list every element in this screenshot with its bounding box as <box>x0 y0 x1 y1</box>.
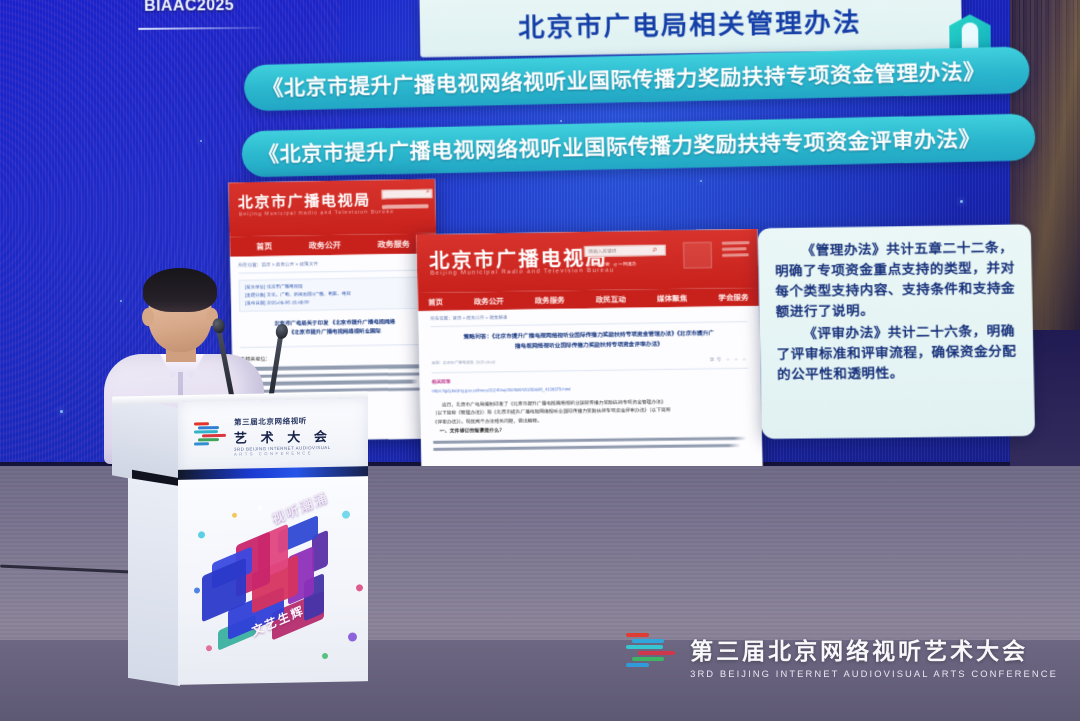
watermark-cn: 第三届北京网络视听艺术大会 <box>690 632 1058 666</box>
nav-item-left-1[interactable]: 政务公开 <box>309 239 341 251</box>
site-body-center: 所在位置：首页 > 政务公开 > 政策解读 策略问答：《北京市提升广播电视网络视… <box>418 306 763 474</box>
nav-item-center-1[interactable]: 政务公开 <box>474 295 504 307</box>
podium-side-body <box>128 478 180 686</box>
podium-front-body: 视听潮涌 文艺生辉 <box>178 476 368 685</box>
related-policy-link[interactable]: https://gdj.beijing.gov.cn/bwss/2024tzwj… <box>432 384 749 393</box>
website-screenshot-center: 北京市广播电视局 Beijing Municipal Radio and Tel… <box>416 229 762 474</box>
search-options-center: ◉ 本站搜索 ◎ 一网通办 <box>586 261 636 268</box>
doc-meta-center: 来源：北京市广播电视局 2025-06-06 <box>431 360 495 366</box>
search-icon-center[interactable]: ⌕ <box>652 244 657 255</box>
nav-item-left-0[interactable]: 首页 <box>256 241 272 252</box>
biaac-logo-text: BIAAC2025 <box>144 0 234 16</box>
watermark-text: 第三届北京网络视听艺术大会 3RD BEIJING INTERNET AUDIO… <box>690 632 1058 679</box>
breadcrumb-left: 所在位置：首页 > 政务公开 > 政策文件 <box>238 260 429 269</box>
podium-logo-en-2: ARTS CONFERENCE <box>234 450 332 457</box>
share-icons-center[interactable]: 字号 ○ ○ ○ <box>710 356 748 363</box>
slide-text-card: 《管理办法》共计五章二十二条，明确了专项资金重点支持的类型，并对每个类型支持内容… <box>758 224 1035 439</box>
bureau-header-center: 北京市广播电视局 Beijing Municipal Radio and Tel… <box>416 229 758 293</box>
slide-banner-1: 《北京市提升广播电视网络视听业国际传播力奖励扶持专项资金管理办法》 <box>244 46 1030 111</box>
header-links-center <box>722 241 753 268</box>
podium: 第三届北京网络视听 艺 术 大 会 3RD BEIJING INTERNET A… <box>112 394 368 694</box>
nav-item-center-2[interactable]: 政务服务 <box>535 294 565 306</box>
nav-item-center-3[interactable]: 政民互动 <box>596 293 626 305</box>
slide-title-text: 北京市广电局相关管理办法 <box>518 1 862 44</box>
stage-photo: BIAAC2025 北京市广电局相关管理办法 首都广电 BRTB 《北京市提升广… <box>0 0 1080 721</box>
nav-item-left-2[interactable]: 政务服务 <box>377 238 410 250</box>
search-icon-left[interactable]: ⌕ <box>426 188 430 196</box>
bureau-header-left: 北京市广播电视局 Beijing Municipal Radio and Tel… <box>228 179 436 237</box>
nav-item-center-5[interactable]: 学会服务 <box>718 291 749 303</box>
header-links-left <box>382 204 429 209</box>
slide-banner-2: 《北京市提升广播电视网络视听业国际传播力奖励扶持专项资金评审办法》 <box>241 113 1036 177</box>
conference-logo-icon <box>194 422 228 453</box>
nav-item-center-4[interactable]: 媒体聚焦 <box>657 292 687 304</box>
search-input-left[interactable] <box>382 189 433 199</box>
bureau-name-en-left: Beijing Municipal Radio and Television B… <box>239 209 394 218</box>
watermark-logo-icon <box>626 633 678 679</box>
breadcrumb-center: 所在位置：首页 > 政务公开 > 政策解读 <box>430 311 747 322</box>
qr-code-center <box>683 242 712 269</box>
podium-artwork: 视听潮涌 文艺生辉 <box>192 492 364 673</box>
text-card-paragraph-2: 《评审办法》共计二十六条，明确了评审标准和评审流程，确保资金分配的公平性和透明性… <box>776 322 1017 386</box>
text-card-paragraph-1: 《管理办法》共计五章二十二条，明确了专项资金重点支持的类型，并对每个类型支持内容… <box>774 239 1016 324</box>
speaker-ear-left <box>142 308 154 326</box>
podium-logo-cn-large: 艺 术 大 会 <box>234 426 332 447</box>
conference-watermark: 第三届北京网络视听艺术大会 3RD BEIJING INTERNET AUDIO… <box>626 632 1058 679</box>
speaker-hair <box>143 268 217 312</box>
watermark-en: 3RD BEIJING INTERNET AUDIOVISUAL ARTS CO… <box>690 668 1058 679</box>
podium-logo-panel: 第三届北京网络视听 艺 术 大 会 3RD BEIJING INTERNET A… <box>178 398 368 474</box>
slide-banner-2-text: 《北京市提升广播电视网络视听业国际传播力奖励扶持专项资金评审办法》 <box>257 123 981 169</box>
slide-title-box: 北京市广电局相关管理办法 <box>419 0 962 57</box>
podium-logo-text: 第三届北京网络视听 艺 术 大 会 3RD BEIJING INTERNET A… <box>234 415 332 457</box>
nav-item-center-0[interactable]: 首页 <box>428 296 443 307</box>
slide-banner-1-text: 《北京市提升广播电视网络视听业国际传播力奖励扶持专项资金管理办法》 <box>262 56 986 103</box>
search-placeholder-center: 请输入关键词 <box>588 248 616 255</box>
podium-conference-logo: 第三届北京网络视听 艺 术 大 会 3RD BEIJING INTERNET A… <box>194 415 332 458</box>
